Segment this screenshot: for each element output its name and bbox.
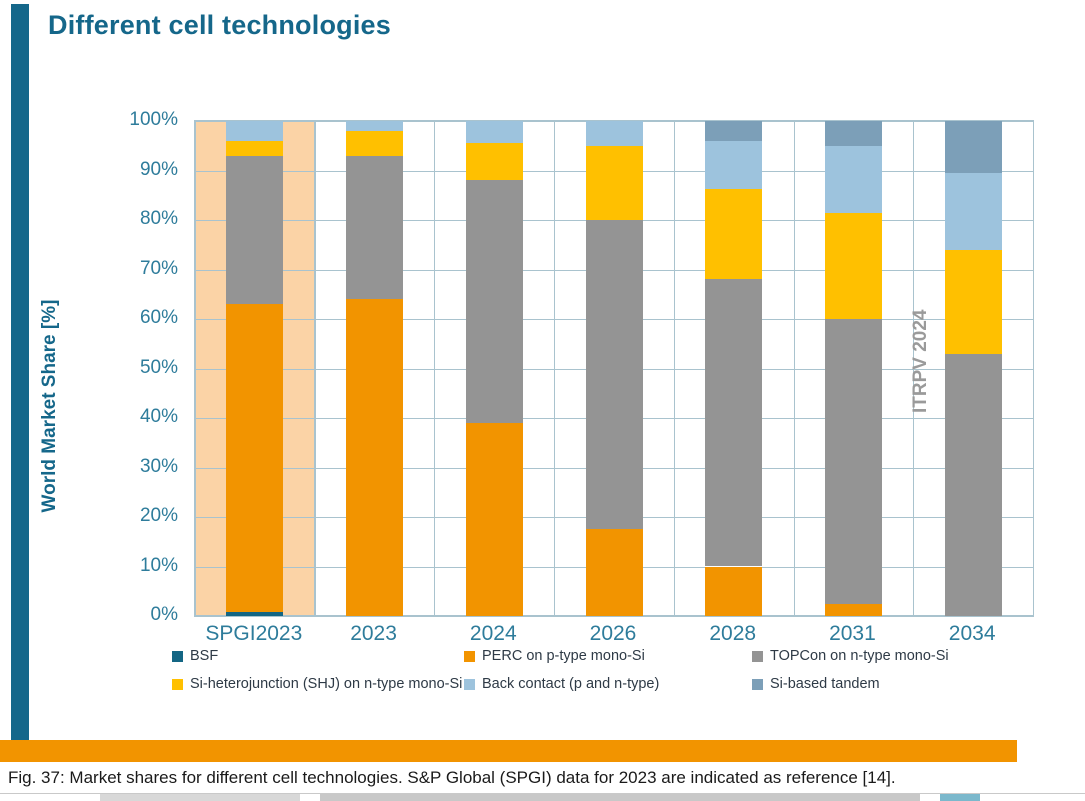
- y-tick-label: 20%: [140, 505, 178, 527]
- legend-label: Back contact (p and n-type): [482, 676, 659, 692]
- bar-2023[interactable]: [346, 121, 403, 616]
- page-title: Different cell technologies: [48, 10, 391, 41]
- bar-segment[interactable]: [586, 529, 643, 616]
- itrpv-annotation: ITRPV 2024: [910, 310, 932, 414]
- legend-swatch-icon: [752, 679, 763, 690]
- bar-segment[interactable]: [705, 141, 762, 189]
- y-axis-title: World Market Share [%]: [39, 286, 61, 526]
- bar-segment[interactable]: [705, 121, 762, 141]
- legend-item-perc-on-p-type-mono-si[interactable]: PERC on p-type mono-Si: [464, 648, 645, 664]
- x-tick-label-2024: 2024: [470, 622, 517, 646]
- y-axis-ticks: 0%10%20%30%40%50%60%70%80%90%100%: [100, 95, 186, 617]
- slide-canvas: Different cell technologies World Market…: [0, 0, 1085, 764]
- figure-caption: Fig. 37: Market shares for different cel…: [8, 768, 896, 788]
- bar-segment[interactable]: [346, 131, 403, 156]
- footer-orange-bar: [0, 740, 1017, 762]
- legend-swatch-icon: [752, 651, 763, 662]
- bar-2034[interactable]: [945, 121, 1002, 616]
- bar-segment[interactable]: [466, 423, 523, 616]
- legend-label: Si-based tandem: [770, 676, 880, 692]
- chart-legend: BSFPERC on p-type mono-SiTOPCon on n-typ…: [0, 648, 1085, 700]
- bar-segment[interactable]: [466, 143, 523, 180]
- vertical-gridline: [434, 121, 435, 616]
- y-tick-label: 60%: [140, 307, 178, 329]
- bar-segment[interactable]: [226, 141, 283, 156]
- bar-segment[interactable]: [945, 121, 1002, 173]
- bar-segment[interactable]: [945, 173, 1002, 250]
- bar-segment[interactable]: [705, 279, 762, 566]
- bar-segment[interactable]: [226, 612, 283, 616]
- bar-segment[interactable]: [945, 250, 1002, 354]
- vertical-gridline: [674, 121, 675, 616]
- bar-2026[interactable]: [586, 121, 643, 616]
- x-tick-label-2023: 2023: [350, 622, 397, 646]
- plot-area: S&P Global data ITRPV 2024: [194, 120, 1034, 617]
- bar-segment[interactable]: [226, 304, 283, 612]
- bar-segment[interactable]: [825, 604, 882, 616]
- bar-segment[interactable]: [346, 156, 403, 300]
- legend-swatch-icon: [464, 651, 475, 662]
- bar-segment[interactable]: [705, 567, 762, 617]
- y-tick-label: 100%: [129, 109, 178, 131]
- bar-segment[interactable]: [825, 213, 882, 319]
- bar-segment[interactable]: [346, 121, 403, 131]
- legend-label: Si-heterojunction (SHJ) on n-type mono-S…: [190, 676, 462, 692]
- x-tick-label-2031: 2031: [829, 622, 876, 646]
- vertical-gridline: [794, 121, 795, 616]
- legend-swatch-icon: [172, 679, 183, 690]
- y-tick-label: 80%: [140, 208, 178, 230]
- legend-label: PERC on p-type mono-Si: [482, 648, 645, 664]
- y-tick-label: 10%: [140, 555, 178, 577]
- bar-2031[interactable]: [825, 121, 882, 616]
- y-tick-label: 90%: [140, 159, 178, 181]
- x-tick-label-2028: 2028: [709, 622, 756, 646]
- bar-segment[interactable]: [586, 220, 643, 529]
- y-tick-label: 40%: [140, 406, 178, 428]
- bar-segment[interactable]: [226, 156, 283, 305]
- legend-item-si-heterojunction-shj-on-n-type-mono-si[interactable]: Si-heterojunction (SHJ) on n-type mono-S…: [172, 676, 462, 692]
- bar-segment[interactable]: [466, 180, 523, 423]
- bar-2028[interactable]: [705, 121, 762, 616]
- x-tick-label-2034: 2034: [949, 622, 996, 646]
- bar-segment[interactable]: [466, 121, 523, 143]
- legend-label: TOPCon on n-type mono-Si: [770, 648, 949, 664]
- vertical-gridline: [554, 121, 555, 616]
- bar-segment[interactable]: [705, 189, 762, 280]
- bar-segment[interactable]: [825, 146, 882, 213]
- bar-segment[interactable]: [586, 121, 643, 146]
- x-tick-label-SPGI2023: SPGI2023: [205, 622, 302, 646]
- bar-segment[interactable]: [226, 121, 283, 141]
- bar-segment[interactable]: [586, 146, 643, 220]
- vertical-gridline: [315, 121, 316, 616]
- bar-2024[interactable]: [466, 121, 523, 616]
- legend-item-topcon-on-n-type-mono-si[interactable]: TOPCon on n-type mono-Si: [752, 648, 949, 664]
- y-tick-label: 70%: [140, 258, 178, 280]
- bar-segment[interactable]: [825, 319, 882, 604]
- legend-swatch-icon: [172, 651, 183, 662]
- legend-item-si-based-tandem[interactable]: Si-based tandem: [752, 676, 880, 692]
- legend-item-back-contact-p-and-n-type[interactable]: Back contact (p and n-type): [464, 676, 659, 692]
- chart-container: World Market Share [%] 0%10%20%30%40%50%…: [0, 95, 1085, 655]
- bar-SPGI2023[interactable]: [226, 121, 283, 616]
- x-tick-label-2026: 2026: [590, 622, 637, 646]
- legend-swatch-icon: [464, 679, 475, 690]
- y-tick-label: 50%: [140, 357, 178, 379]
- y-tick-label: 30%: [140, 456, 178, 478]
- legend-label: BSF: [190, 648, 218, 664]
- y-tick-label: 0%: [151, 604, 178, 626]
- bar-segment[interactable]: [346, 299, 403, 616]
- bar-segment[interactable]: [945, 354, 1002, 616]
- bar-segment[interactable]: [825, 121, 882, 146]
- legend-item-bsf[interactable]: BSF: [172, 648, 218, 664]
